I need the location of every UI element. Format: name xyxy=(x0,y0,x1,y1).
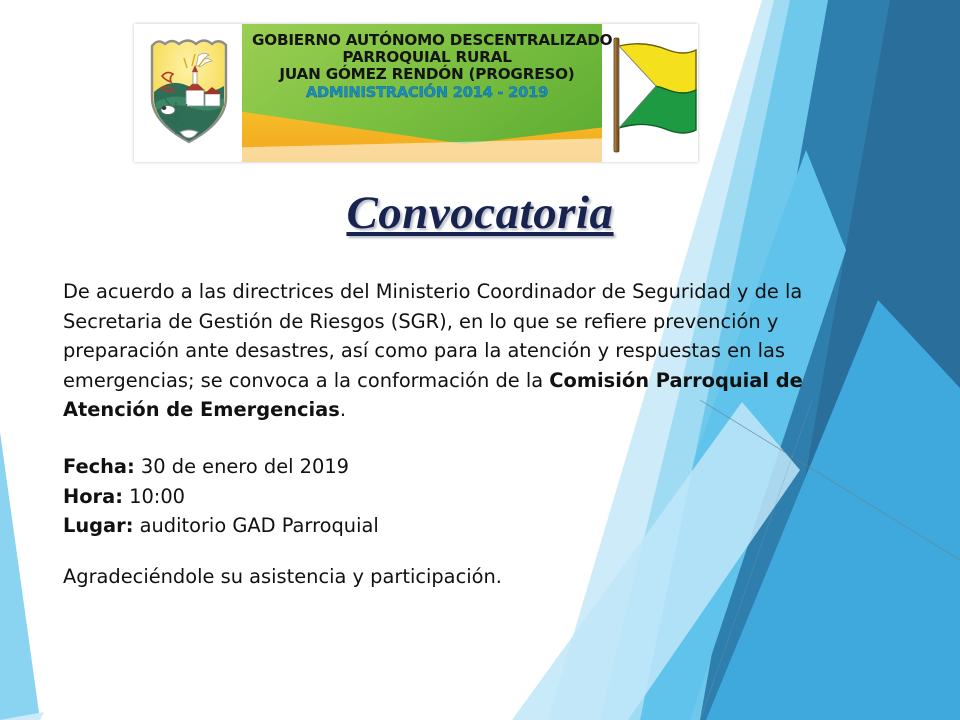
paragraph-part-2: . xyxy=(340,398,346,421)
hairline-diagonal-2 xyxy=(700,400,812,720)
detail-row-hora: Hora: 10:00 xyxy=(63,482,763,512)
event-details: Fecha: 30 de enero del 2019 Hora: 10:00 … xyxy=(63,452,763,541)
banner-line-2: PARROQUIAL RURAL xyxy=(252,49,602,66)
detail-label-hora: Hora: xyxy=(63,485,123,508)
flag-pole xyxy=(614,38,619,152)
convocation-paragraph: De acuerdo a las directrices del Ministe… xyxy=(63,277,863,425)
wedge-bottom-left-pale xyxy=(0,712,44,720)
detail-row-fecha: Fecha: 30 de enero del 2019 xyxy=(63,452,763,482)
detail-label-fecha: Fecha: xyxy=(63,455,135,478)
banner-line-3: JUAN GÓMEZ RENDÓN (PROGRESO) xyxy=(252,66,602,83)
banner-line-1: GOBIERNO AUTÓNOMO DESCENTRALIZADO xyxy=(252,32,602,49)
detail-row-lugar: Lugar: auditorio GAD Parroquial xyxy=(63,511,763,541)
detail-value-hora: 10:00 xyxy=(129,485,185,508)
banner-title-block: GOBIERNO AUTÓNOMO DESCENTRALIZADO PARROQ… xyxy=(252,32,602,101)
page-title: Convocatoria xyxy=(0,186,960,240)
detail-value-lugar: auditorio GAD Parroquial xyxy=(140,514,379,537)
body-paragraph-block: De acuerdo a las directrices del Ministe… xyxy=(63,277,863,425)
header-banner: GOBIERNO AUTÓNOMO DESCENTRALIZADO PARROQ… xyxy=(134,24,698,162)
banner-line-4-administration: ADMINISTRACIÓN 2014 - 2019 xyxy=(252,85,602,101)
slide-canvas: GOBIERNO AUTÓNOMO DESCENTRALIZADO PARROQ… xyxy=(0,0,960,720)
detail-label-lugar: Lugar: xyxy=(63,514,133,537)
detail-value-fecha: 30 de enero del 2019 xyxy=(141,455,349,478)
band-fan-pale xyxy=(512,402,800,720)
closing-line: Agradeciéndole su asistencia y participa… xyxy=(63,562,763,592)
wedge-bottom-left xyxy=(0,432,40,720)
